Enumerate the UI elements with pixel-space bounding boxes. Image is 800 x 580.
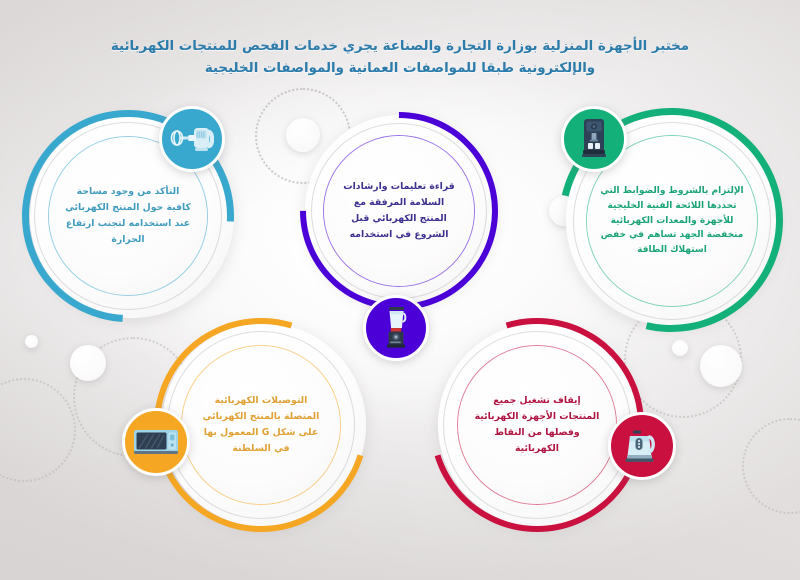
coffee-machine-icon-badge[interactable] xyxy=(561,106,627,172)
circle-node-switch-off-unplug[interactable]: إيقاف تشغيل جميع المنتجات الأجهزة الكهرب… xyxy=(430,318,680,533)
node-text-disc: قراءة تعليمات وارشادات السلامة المرفقة م… xyxy=(324,136,474,286)
circle-node-g-type-plug[interactable]: التوصيلات الكهربائية المتصلة بالمنتج الك… xyxy=(150,318,400,533)
decorative-dot-lower-right xyxy=(700,345,742,387)
electric-kettle-icon-badge[interactable] xyxy=(608,412,676,480)
coffee-machine-icon xyxy=(577,117,611,161)
hand-mixer-icon-badge[interactable] xyxy=(159,106,225,172)
microwave-icon-badge[interactable] xyxy=(122,408,190,476)
node-text-disc: التوصيلات الكهربائية المتصلة بالمنتج الك… xyxy=(182,346,340,504)
page-title: مختبر الأجهزة المنزلية بوزارة التجارة وا… xyxy=(0,36,800,79)
node-text: قراءة تعليمات وارشادات السلامة المرفقة م… xyxy=(324,179,474,243)
decorative-dot-bottom-left xyxy=(25,335,38,348)
electric-kettle-icon xyxy=(621,427,663,465)
circle-node-heat-clearance[interactable]: التأكد من وجود مساحة كافية حول المنتج ال… xyxy=(22,110,282,322)
node-text: التوصيلات الكهربائية المتصلة بالمنتج الك… xyxy=(182,393,340,457)
microwave-icon xyxy=(132,426,180,458)
node-text-disc: إيقاف تشغيل جميع المنتجات الأجهزة الكهرب… xyxy=(458,346,616,504)
circle-node-gulf-regulation[interactable]: الإلتزام بالشروط والضوابط التي تحددها ال… xyxy=(548,108,798,333)
node-text: الإلتزام بالشروط والضوابط التي تحددها ال… xyxy=(587,184,757,259)
circle-node-read-instructions[interactable]: قراءة تعليمات وارشادات السلامة المرفقة م… xyxy=(300,112,510,322)
decorative-dot-mid-left xyxy=(70,345,106,381)
decorative-dotted-arc-far-right xyxy=(742,418,800,514)
node-text: التأكد من وجود مساحة كافية حول المنتج ال… xyxy=(49,184,207,248)
hand-mixer-icon xyxy=(170,122,214,156)
title-line-2: والإلكترونية طبقا للمواصفات العمانية وال… xyxy=(78,58,722,80)
decorative-dotted-arc-bottom-left xyxy=(0,378,76,482)
title-line-1: مختبر الأجهزة المنزلية بوزارة التجارة وا… xyxy=(78,36,722,58)
node-text: إيقاف تشغيل جميع المنتجات الأجهزة الكهرب… xyxy=(458,393,616,457)
